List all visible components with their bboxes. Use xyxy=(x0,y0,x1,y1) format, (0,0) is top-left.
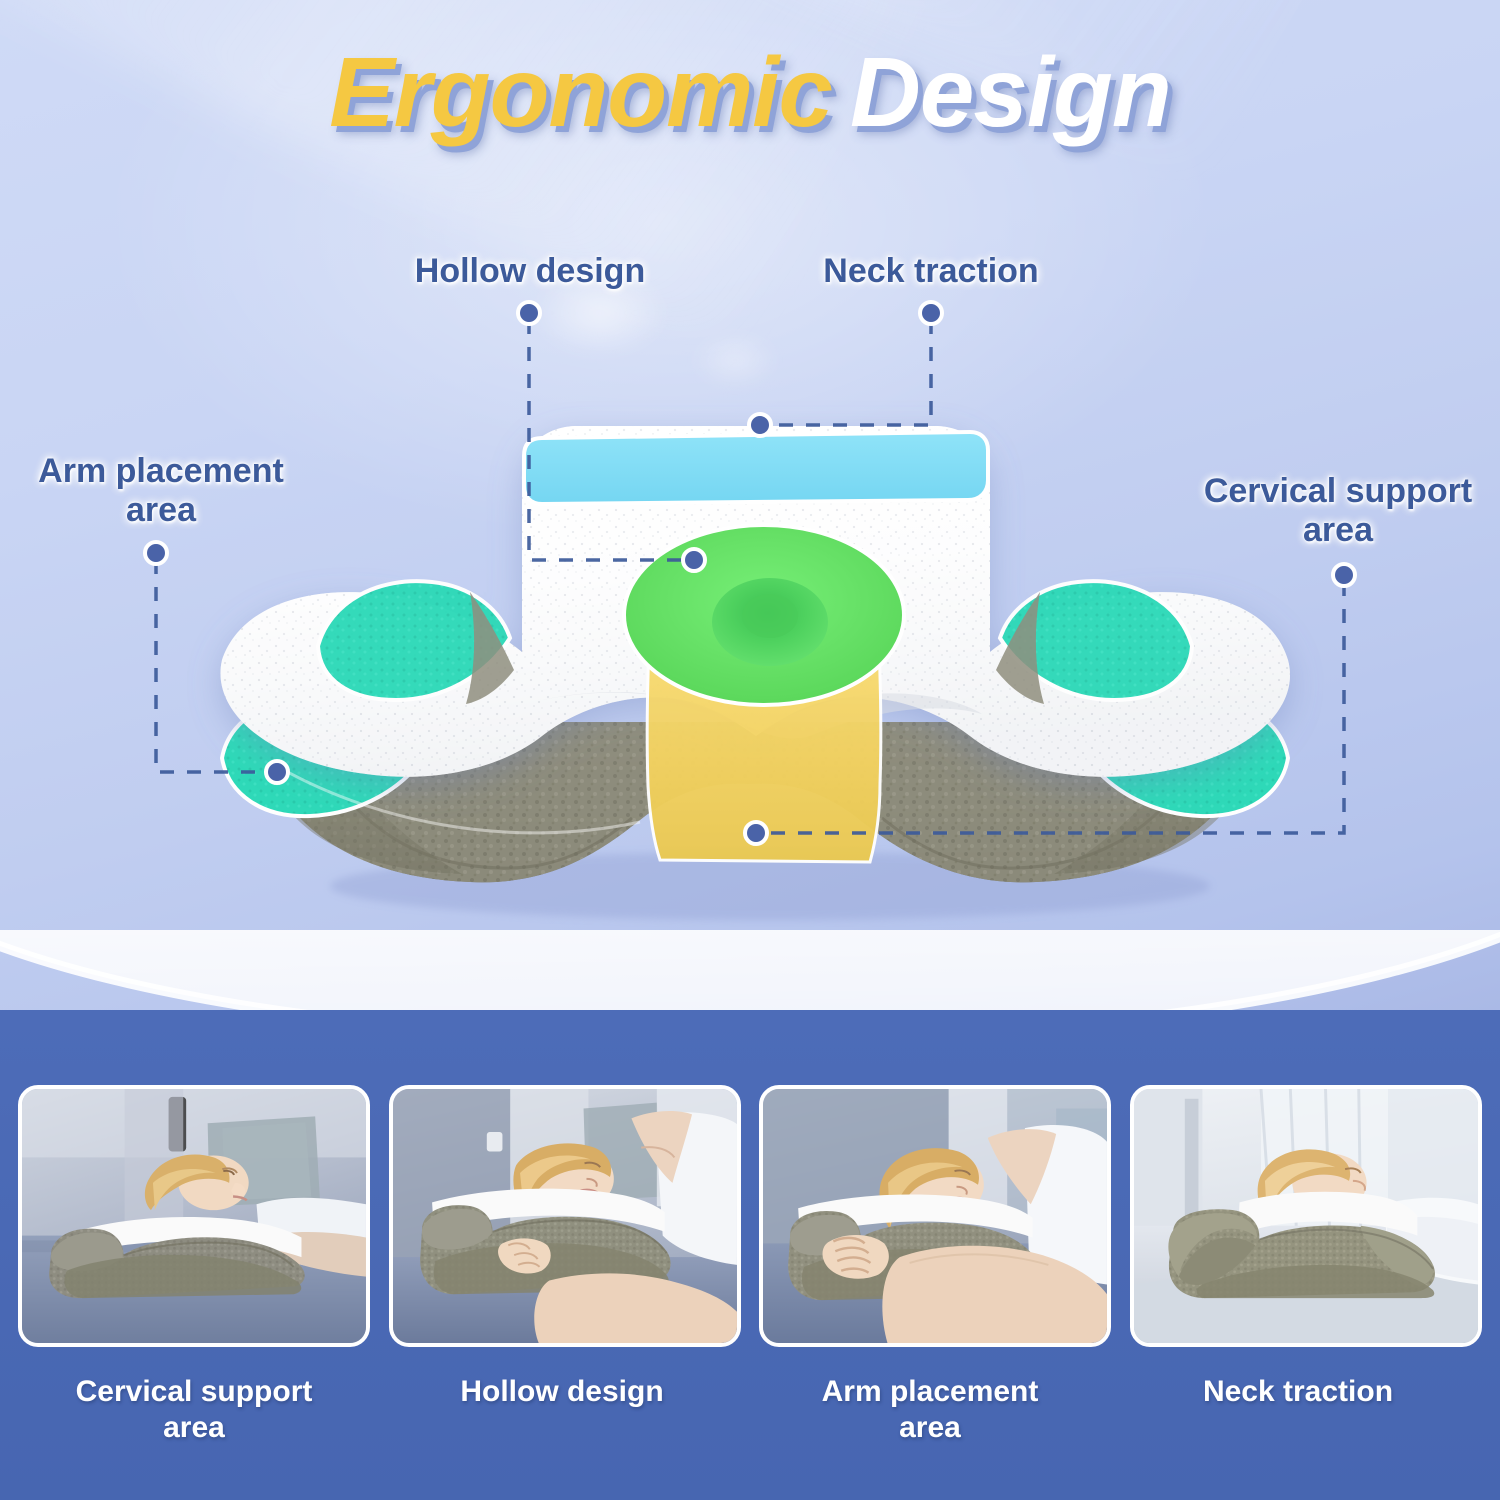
connector-arm-placement xyxy=(156,560,264,772)
dot-cervical-support-target xyxy=(745,822,767,844)
dot-hollow-design-label xyxy=(518,302,540,324)
gallery-card-neck-traction[interactable] xyxy=(1130,1085,1482,1347)
callout-label-hollow-design: Hollow design xyxy=(400,252,660,291)
connector-cervical-support xyxy=(768,582,1344,833)
hero-section: ErgonomicDesign xyxy=(0,0,1500,1010)
callout-label-arm-placement: Arm placement area xyxy=(16,452,306,531)
caption-neck-traction: Neck traction xyxy=(1122,1370,1474,1490)
caption-hollow-design: Hollow design xyxy=(386,1370,738,1490)
dot-neck-traction-label xyxy=(920,302,942,324)
gallery-section: Cervical support area Hollow design Arm … xyxy=(0,1010,1500,1500)
gallery-card-arm-placement[interactable] xyxy=(759,1085,1111,1347)
dot-hollow-design-target xyxy=(683,549,705,571)
caption-arm-placement: Arm placement area xyxy=(754,1370,1106,1490)
caption-cervical-support: Cervical support area xyxy=(18,1370,370,1490)
connector-neck-traction xyxy=(772,320,931,425)
dot-neck-traction-target xyxy=(749,414,771,436)
dot-arm-placement-target xyxy=(266,761,288,783)
dot-arm-placement-label xyxy=(145,542,167,564)
callout-label-neck-traction: Neck traction xyxy=(806,252,1056,291)
gallery-card-hollow-design[interactable] xyxy=(389,1085,741,1347)
gallery-card-cervical-support[interactable] xyxy=(18,1085,370,1347)
gallery-cards xyxy=(0,1085,1500,1350)
gallery-captions: Cervical support area Hollow design Arm … xyxy=(0,1370,1500,1490)
callout-label-cervical-support: Cervical support area xyxy=(1190,472,1486,551)
dot-cervical-support-label xyxy=(1333,564,1355,586)
connector-hollow-design xyxy=(529,320,688,560)
